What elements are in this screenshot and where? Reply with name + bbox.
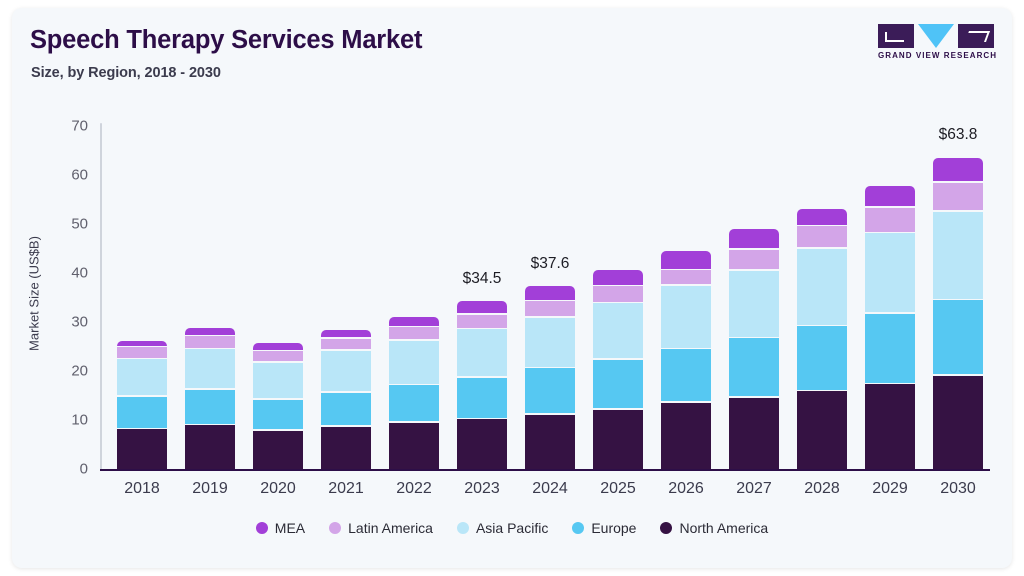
bar-segment-asia-pacific[interactable] [797,249,847,325]
bar-segment-asia-pacific[interactable] [933,212,983,299]
legend-label: North America [679,520,768,536]
legend-swatch-icon [457,522,469,534]
bar-segment-asia-pacific[interactable] [729,271,779,337]
bar-stack [389,316,439,469]
bar-stack [729,228,779,469]
bar-segment-north-america[interactable] [321,427,371,469]
bar-segment-north-america[interactable] [797,391,847,469]
y-axis-tick: 30 [48,314,88,331]
legend-swatch-icon [660,522,672,534]
bar-group[interactable] [321,108,371,469]
bar-segment-asia-pacific[interactable] [253,363,303,399]
legend-swatch-icon [329,522,341,534]
legend-swatch-icon [256,522,268,534]
bar-segment-asia-pacific[interactable] [865,233,915,312]
bar-segment-mea[interactable] [525,286,575,300]
bar-segment-europe[interactable] [797,326,847,389]
bar-segment-europe[interactable] [933,300,983,374]
bar-stack [593,268,643,469]
y-axis-tick: 60 [48,167,88,184]
legend-label: Latin America [348,520,433,536]
bar-segment-north-america[interactable] [117,429,167,469]
legend-item-north-america[interactable]: North America [660,520,768,536]
y-axis-tick: 70 [48,118,88,135]
bar-segment-mea[interactable] [117,341,167,346]
bar-segment-mea[interactable] [185,328,235,335]
bar-segment-mea[interactable] [933,158,983,181]
bar-stack [525,285,575,469]
bar-segment-asia-pacific[interactable] [389,341,439,384]
bar-stack [117,339,167,469]
bar-segment-latin-america[interactable] [593,286,643,302]
bar-segment-mea[interactable] [865,186,915,206]
legend-label: Europe [591,520,636,536]
bar-segment-north-america[interactable] [661,403,711,469]
chart-legend: MEALatin AmericaAsia PacificEuropeNorth … [12,520,1012,536]
bar-segment-latin-america[interactable] [797,226,847,247]
legend-item-asia-pacific[interactable]: Asia Pacific [457,520,548,536]
bar-segment-latin-america[interactable] [185,336,235,348]
bar-stack [185,326,235,469]
bar-segment-latin-america[interactable] [117,347,167,358]
bar-segment-mea[interactable] [253,343,303,350]
bar-segment-latin-america[interactable] [729,250,779,270]
bar-segment-europe[interactable] [321,393,371,426]
bar-segment-mea[interactable] [457,301,507,313]
bar-segment-latin-america[interactable] [389,327,439,339]
y-axis-tick: 10 [48,412,88,429]
bar-segment-latin-america[interactable] [321,339,371,350]
bar-segment-north-america[interactable] [729,398,779,470]
bar-segment-north-america[interactable] [593,410,643,469]
y-axis-tick: 50 [48,216,88,233]
chart-card: Speech Therapy Services Market Size, by … [12,8,1012,568]
bar-segment-asia-pacific[interactable] [185,349,235,388]
bar-group[interactable] [933,108,983,469]
bar-stack [661,249,711,469]
bar-segment-latin-america[interactable] [661,270,711,284]
bar-stack [865,185,915,469]
bar-stack [321,329,371,469]
legend-swatch-icon [572,522,584,534]
bar-segment-europe[interactable] [185,390,235,424]
bar-segment-europe[interactable] [865,314,915,383]
x-axis-tick: 2030 [898,480,1012,498]
bar-stack [797,208,847,469]
legend-label: MEA [275,520,305,536]
bar-segment-mea[interactable] [797,209,847,225]
bar-segment-north-america[interactable] [865,384,915,469]
bar-segment-mea[interactable] [321,330,371,337]
bar-segment-latin-america[interactable] [457,315,507,328]
bar-group[interactable] [797,108,847,469]
bar-segment-mea[interactable] [729,229,779,248]
bar-group[interactable] [729,108,779,469]
bar-segment-europe[interactable] [457,378,507,418]
bar-segment-europe[interactable] [729,338,779,396]
y-axis-line [100,123,102,471]
bar-segment-north-america[interactable] [457,419,507,469]
bar-segment-europe[interactable] [593,360,643,408]
legend-label: Asia Pacific [476,520,548,536]
bar-segment-mea[interactable] [661,251,711,269]
bar-group[interactable] [253,108,303,469]
bar-segment-europe[interactable] [117,397,167,428]
bar-group[interactable] [457,108,507,469]
legend-item-europe[interactable]: Europe [572,520,636,536]
bar-group[interactable] [117,108,167,469]
y-axis-ticks: 010203040506070 [38,8,88,568]
bar-group[interactable] [389,108,439,469]
bar-segment-latin-america[interactable] [525,301,575,316]
stacked-bar-chart: Market Size (US$B) 010203040506070 MEALa… [12,8,1012,568]
bar-segment-mea[interactable] [389,317,439,326]
bar-stack [253,342,303,469]
bar-segment-europe[interactable] [253,400,303,429]
x-axis-line [100,469,990,471]
bar-segment-asia-pacific[interactable] [661,286,711,348]
bar-segment-europe[interactable] [525,368,575,413]
bar-segment-asia-pacific[interactable] [457,329,507,376]
bar-stack [933,156,983,469]
bar-segment-north-america[interactable] [253,431,303,469]
bar-segment-latin-america[interactable] [865,208,915,232]
bar-stack [457,300,507,469]
bar-segment-asia-pacific[interactable] [117,359,167,395]
bar-value-label: $37.6 [490,255,610,273]
bar-segment-asia-pacific[interactable] [321,351,371,391]
bar-segment-asia-pacific[interactable] [593,303,643,358]
bar-group[interactable] [185,108,235,469]
y-axis-tick: 0 [48,461,88,478]
legend-item-latin-america[interactable]: Latin America [329,520,433,536]
bar-group[interactable] [593,108,643,469]
y-axis-tick: 40 [48,265,88,282]
bar-segment-asia-pacific[interactable] [525,318,575,367]
bar-segment-north-america[interactable] [185,425,235,469]
bar-segment-north-america[interactable] [525,415,575,469]
bar-group[interactable] [525,108,575,469]
bar-segment-latin-america[interactable] [933,183,983,210]
bars-area [108,108,992,469]
bar-segment-latin-america[interactable] [253,351,303,361]
bar-segment-europe[interactable] [661,349,711,401]
bar-segment-north-america[interactable] [389,423,439,469]
legend-item-mea[interactable]: MEA [256,520,305,536]
bar-group[interactable] [865,108,915,469]
bar-value-label: $63.8 [898,126,1012,144]
y-axis-tick: 20 [48,363,88,380]
bar-segment-europe[interactable] [389,385,439,421]
bar-group[interactable] [661,108,711,469]
bar-segment-north-america[interactable] [933,376,983,469]
